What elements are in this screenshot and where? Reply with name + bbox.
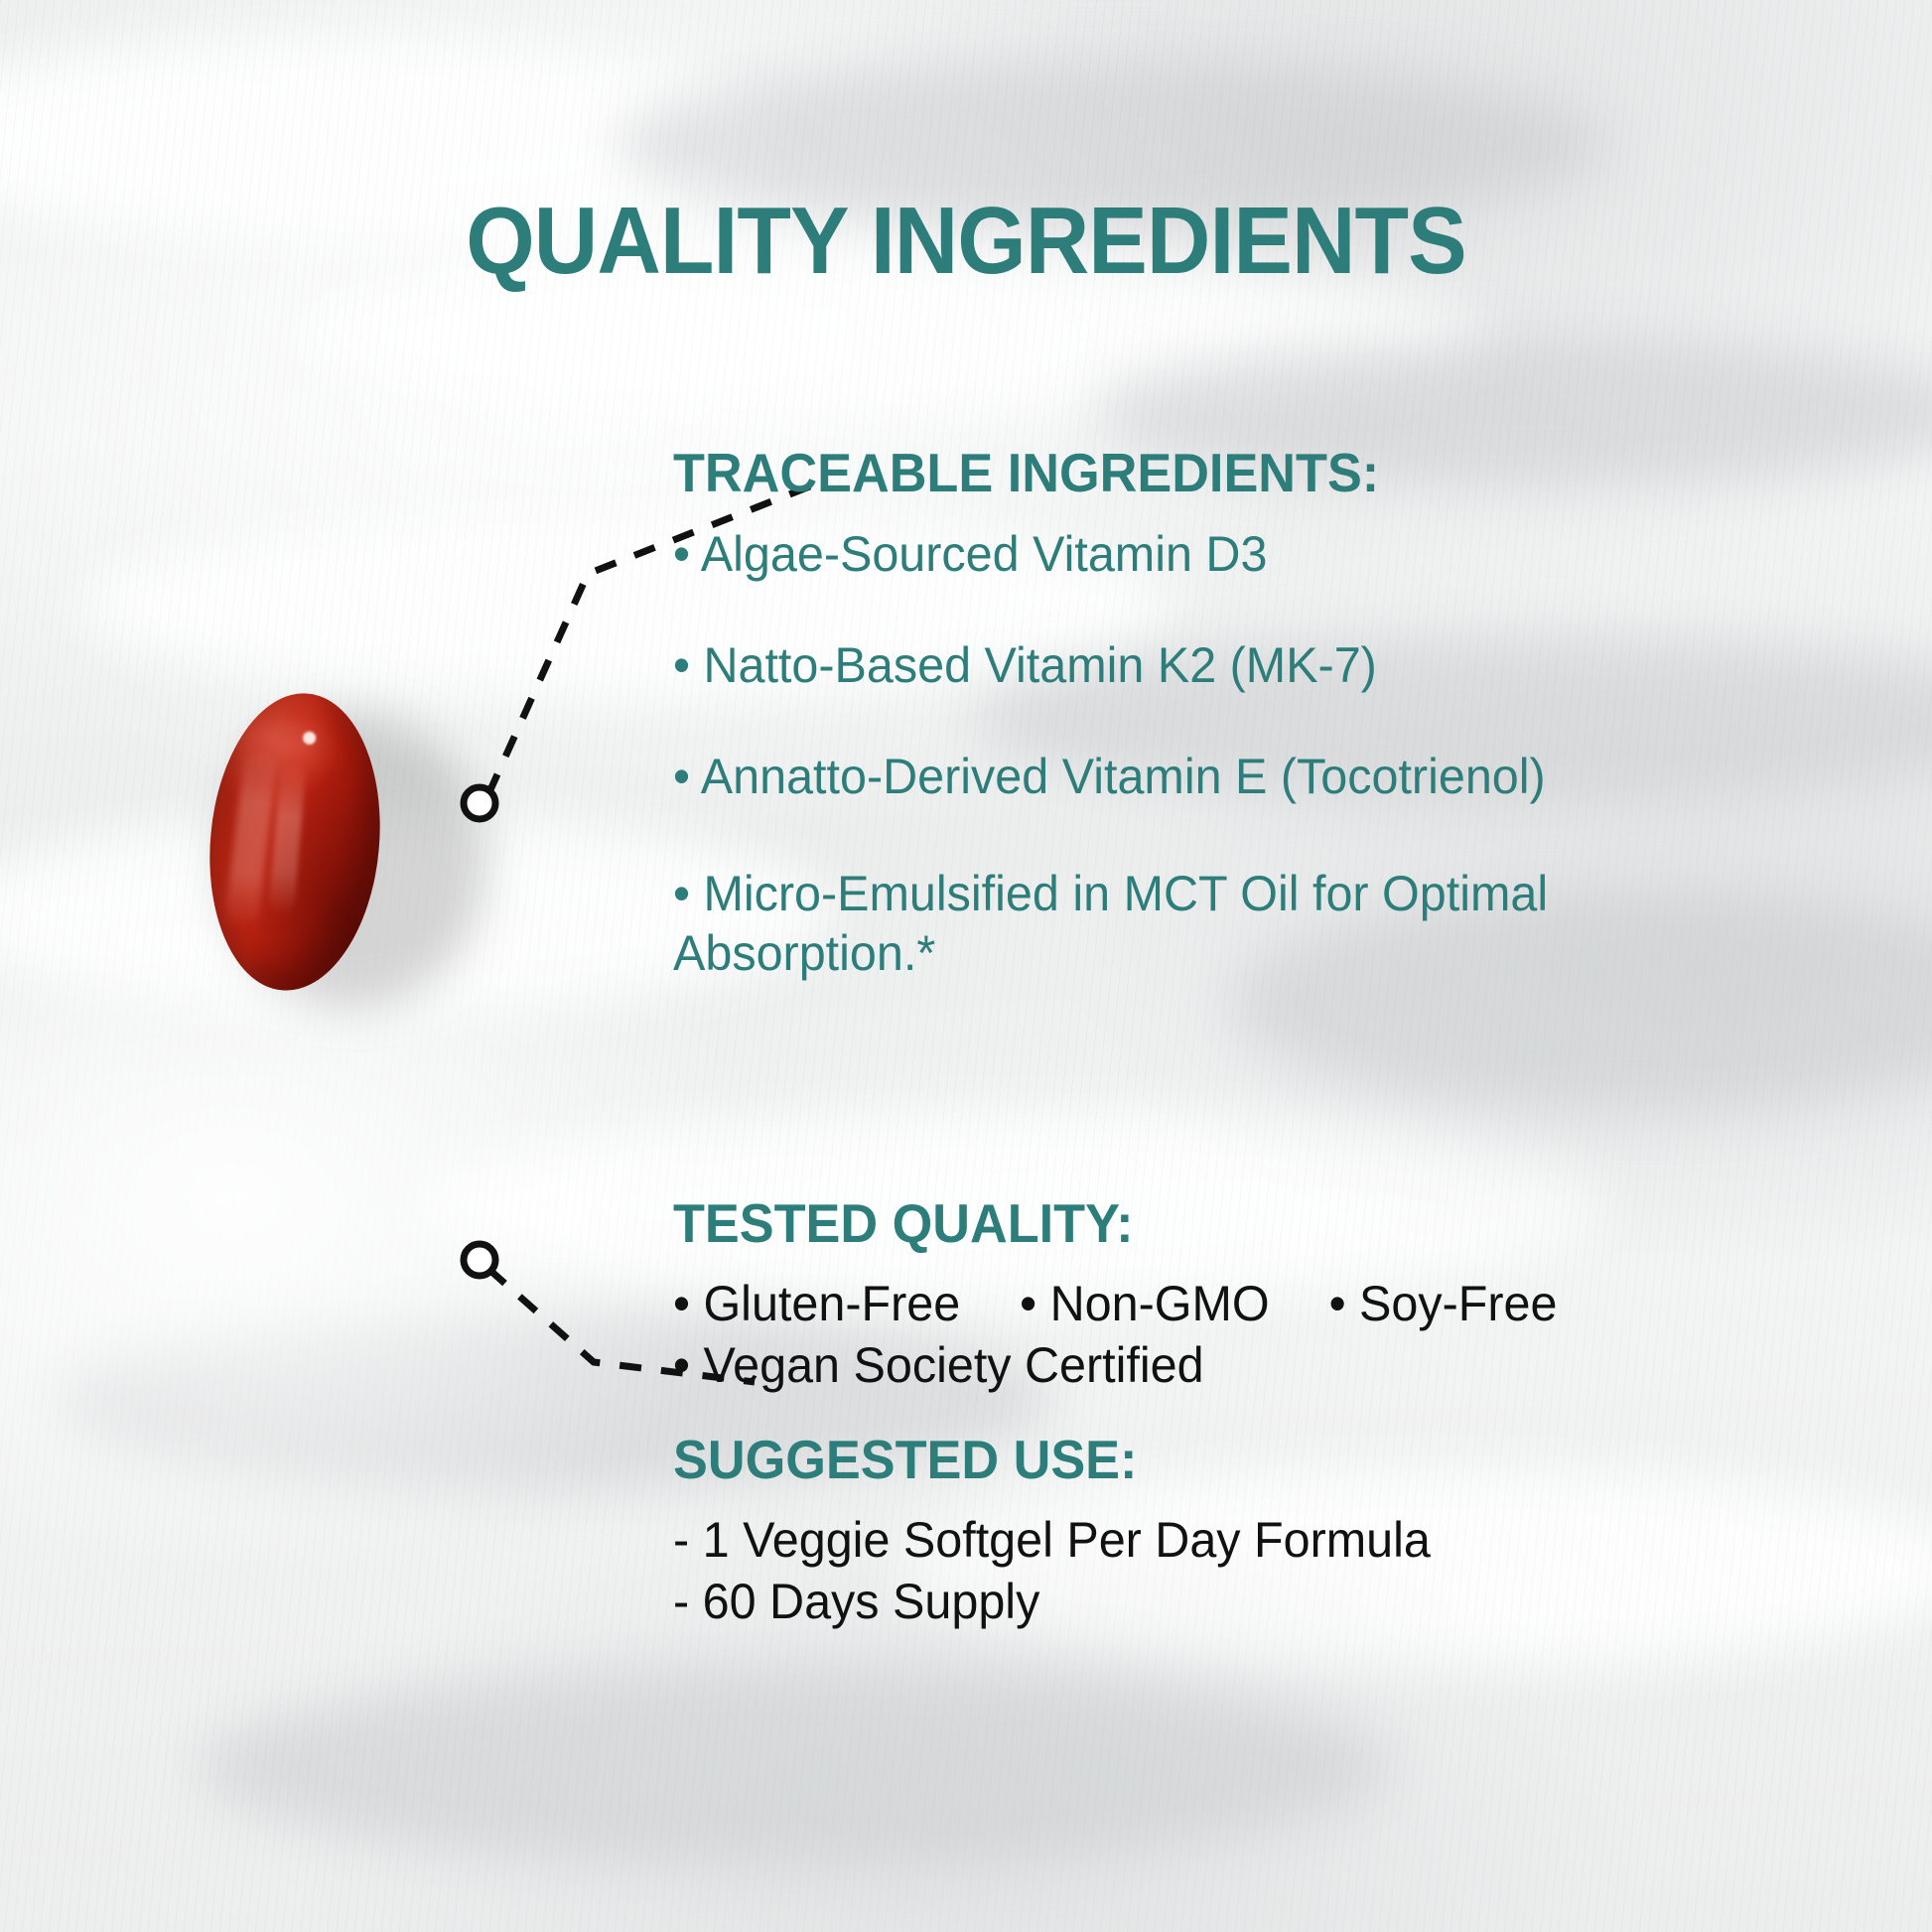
- page-title: QUALITY INGREDIENTS: [68, 187, 1864, 296]
- badge-soy-free: • Soy-Free: [1329, 1276, 1558, 1331]
- tested-quality-badges: • Gluten-Free • Non-GMO • Soy-Free: [673, 1273, 1557, 1334]
- list-item: - 1 Veggie Softgel Per Day Formula: [673, 1509, 1431, 1571]
- list-item: • Algae-Sourced Vitamin D3: [673, 524, 1267, 584]
- list-item: • Annatto-Derived Vitamin E (Tocotrienol…: [673, 747, 1546, 806]
- badge-vegan-society-certified: • Vegan Society Certified: [673, 1334, 1204, 1396]
- tested-quality-heading: TESTED QUALITY:: [673, 1191, 1133, 1255]
- list-item: • Natto-Based Vitamin K2 (MK-7): [673, 635, 1377, 695]
- badge-gluten-free: • Gluten-Free: [673, 1276, 960, 1331]
- list-item: • Micro-Emulsified in MCT Oil for Optima…: [673, 864, 1636, 983]
- suggested-use-heading: SUGGESTED USE:: [673, 1428, 1137, 1491]
- badge-non-gmo: • Non-GMO: [1020, 1276, 1269, 1331]
- traceable-ingredients-heading: TRACEABLE INGREDIENTS:: [673, 441, 1379, 504]
- infographic-canvas: QUALITY INGREDIENTS TRACEABLE INGREDIENT…: [0, 0, 1932, 1932]
- capsule-graphic: [203, 685, 500, 1003]
- list-item: - 60 Days Supply: [673, 1571, 1039, 1632]
